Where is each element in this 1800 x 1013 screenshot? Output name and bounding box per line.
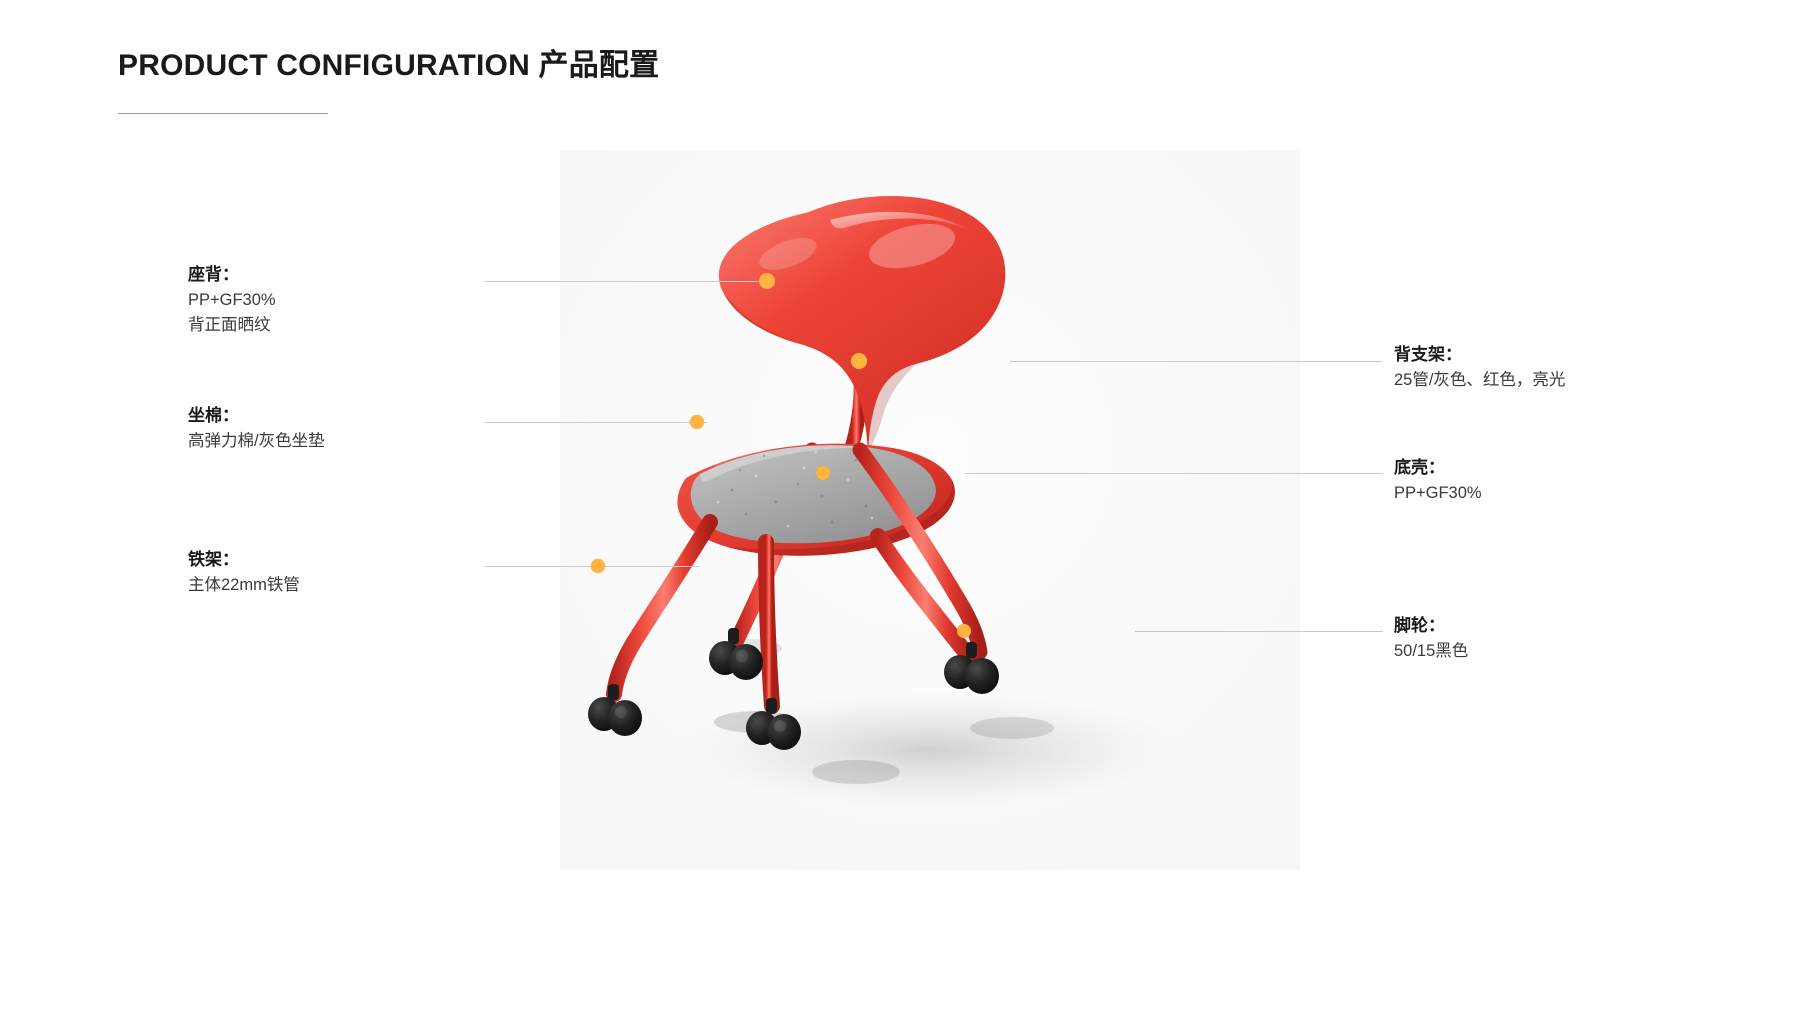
leader-line-casters xyxy=(1135,631,1383,632)
callout-back-bracket-title: 背支架： xyxy=(1394,342,1565,368)
callout-iron-frame: 铁架： 主体22mm铁管 xyxy=(188,547,300,598)
callout-bottom-shell: 底壳： PP+GF30% xyxy=(1394,455,1482,506)
callout-bottom-shell-title: 底壳： xyxy=(1394,455,1482,481)
callout-seat-cushion: 坐棉： 高弹力棉/灰色坐垫 xyxy=(188,403,325,454)
callout-back-bracket-line-1: 25管/灰色、红色，亮光 xyxy=(1394,368,1565,393)
leg-front-center xyxy=(766,542,772,706)
leader-line-back-bracket xyxy=(1010,361,1382,362)
callout-seat-cushion-line-1: 高弹力棉/灰色坐垫 xyxy=(188,429,325,454)
callout-seat-back-line-2: 背正面晒纹 xyxy=(188,313,276,338)
product-configuration-page: PRODUCT CONFIGURATION 产品配置 xyxy=(0,0,1800,1013)
floor-shadow xyxy=(680,692,1180,808)
hotspot-casters[interactable] xyxy=(957,624,971,638)
callout-iron-frame-title: 铁架： xyxy=(188,547,300,573)
callout-seat-back: 座背： PP+GF30% 背正面晒纹 xyxy=(188,262,276,338)
product-image xyxy=(560,150,1300,870)
callout-casters-title: 脚轮： xyxy=(1394,613,1468,639)
callout-back-bracket: 背支架： 25管/灰色、红色，亮光 xyxy=(1394,342,1565,393)
callout-casters-line-1: 50/15黑色 xyxy=(1394,639,1468,664)
callout-seat-back-title: 座背： xyxy=(188,262,276,288)
hotspot-bottom-shell[interactable] xyxy=(816,466,830,480)
callout-iron-frame-line-1: 主体22mm铁管 xyxy=(188,573,300,598)
callout-seat-cushion-title: 坐棉： xyxy=(188,403,325,429)
page-header: PRODUCT CONFIGURATION 产品配置 xyxy=(118,48,1018,84)
leader-line-seat-cushion xyxy=(485,422,707,423)
hotspot-iron-frame[interactable] xyxy=(591,559,605,573)
callout-seat-back-line-1: PP+GF30% xyxy=(188,288,276,313)
hotspot-seat-cushion[interactable] xyxy=(690,415,704,429)
hotspot-seat-back[interactable] xyxy=(759,273,775,289)
leader-line-bottom-shell xyxy=(965,473,1383,474)
callout-casters: 脚轮： 50/15黑色 xyxy=(1394,613,1468,664)
page-title: PRODUCT CONFIGURATION 产品配置 xyxy=(118,48,1018,84)
callout-bottom-shell-line-1: PP+GF30% xyxy=(1394,481,1482,506)
title-underline-rule xyxy=(118,113,328,114)
leader-line-seat-back xyxy=(485,281,773,282)
hotspot-back-bracket[interactable] xyxy=(851,353,867,369)
